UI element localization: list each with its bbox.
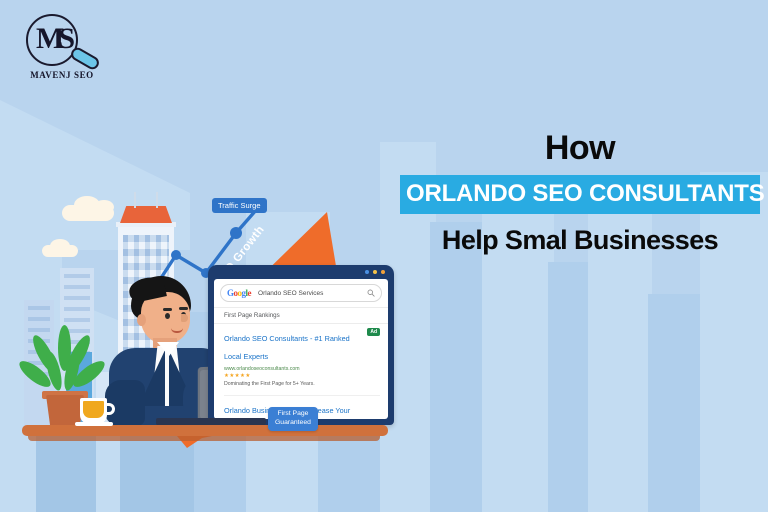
headline-highlight-banner: ORLANDO SEO CONSULTANTS (400, 175, 760, 214)
desk-edge (28, 436, 380, 441)
eyebrow-left (163, 308, 172, 311)
cloud-icon (94, 200, 114, 214)
brand-name: MAVENJ SEO (14, 70, 110, 80)
poster-canvas: Traffic Surge SEO Growth (0, 0, 768, 512)
guarantee-line-1: First Page (277, 410, 308, 417)
nose (181, 314, 188, 322)
section-label-first-page-rankings: First Page Rankings (214, 308, 388, 324)
window-dot-yellow-icon (373, 270, 377, 274)
result-description: Dominating the First Page for 5+ Years. (224, 381, 380, 388)
headline-line-3: Help Smal Businesses (400, 225, 760, 256)
search-bar[interactable]: Google Orlando SEO Services (220, 284, 382, 302)
star-rating-icon: ★★★★★ (224, 373, 380, 379)
browser-window[interactable]: Google Orlando SEO Services First Page R… (208, 265, 394, 425)
window-dot-blue-icon (365, 270, 369, 274)
desk-surface (22, 425, 388, 436)
result-title[interactable]: Orlando SEO Consultants - #1 Ranked Loca… (224, 334, 350, 361)
browser-viewport: Google Orlando SEO Services First Page R… (214, 279, 388, 419)
search-result-1[interactable]: Ad Orlando SEO Consultants - #1 Ranked L… (214, 324, 388, 391)
magnifier-handle-icon (69, 45, 101, 71)
result-url: www.orlandoseoconsultants.com (224, 366, 380, 372)
skyline-block (430, 222, 488, 512)
coffee-liquid (83, 401, 104, 418)
skyline-block (648, 294, 704, 512)
ad-badge: Ad (367, 328, 380, 336)
guarantee-line-2: Guaranteed (275, 419, 311, 426)
skyline-block (588, 212, 652, 512)
antenna-icon (134, 192, 136, 208)
window-control-dots (365, 270, 385, 274)
brand-logo[interactable]: MS MAVENJ SEO (14, 10, 110, 86)
search-icon[interactable] (367, 289, 375, 297)
eye-left (165, 313, 170, 319)
headline-line-1: How (400, 130, 760, 167)
headline-block: How ORLANDO SEO CONSULTANTS Help Smal Bu… (400, 130, 760, 256)
eyebrow-right (179, 307, 188, 310)
logo-monogram: MS (36, 22, 69, 56)
browser-titlebar (208, 265, 394, 279)
first-page-guaranteed-badge: First Page Guaranteed (268, 407, 318, 431)
window-dot-orange-icon (381, 270, 385, 274)
cloud-icon (50, 239, 70, 253)
search-input[interactable]: Orlando SEO Services (255, 290, 363, 297)
ear (137, 314, 146, 326)
google-logo-icon: Google (227, 288, 251, 298)
